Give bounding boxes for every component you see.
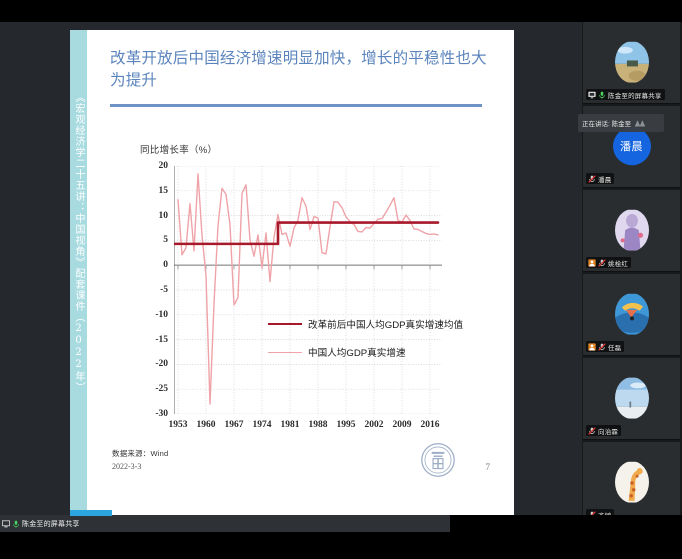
avatar: 潘晨 <box>613 127 651 165</box>
mic-muted-icon <box>598 259 606 267</box>
participant-tile[interactable]: 向治霖 <box>583 358 680 440</box>
chart-y-axis-title: 同比增长率（%） <box>140 142 217 156</box>
chart-x-tick: 1960 <box>197 420 216 430</box>
participant-name-badge: 潘晨 <box>586 173 614 184</box>
mic-muted-icon <box>598 343 606 351</box>
data-source-note: 数据来源：Wind <box>112 448 168 459</box>
slide-title: 改革开放后中国经济增速明显加快，增长的平稳性也大为提升 <box>110 48 490 92</box>
chart-x-tick: 2016 <box>421 420 440 430</box>
chart-y-tick: -30 <box>155 409 168 419</box>
chart-x-tick: 1995 <box>337 420 356 430</box>
legend-entry-series: 中国人均GDP真实增速 <box>268 342 463 362</box>
university-logo-icon <box>420 442 456 478</box>
screen-share-viewport: 《宏观经济学二十五讲：中国视角》配套课件（2022年） 改革开放后中国经济增速明… <box>0 22 582 515</box>
top-letterbox <box>0 0 682 22</box>
chart-x-tick: 1953 <box>169 420 188 430</box>
avatar <box>615 293 649 335</box>
active-window-indicator <box>70 510 112 516</box>
legend-swatch-average <box>268 323 302 325</box>
chart-y-tick: -25 <box>155 384 168 394</box>
chart-legend: 改革前后中国人均GDP真实增速均值 中国人均GDP真实增速 <box>268 314 463 370</box>
slide-page-number: 7 <box>486 462 491 472</box>
chart-y-tick: 10 <box>159 211 169 221</box>
participant-name-badge: 陈金至的屏幕共享 <box>586 89 665 100</box>
avatar-photo <box>615 377 649 419</box>
chart-y-tick: -10 <box>155 310 168 320</box>
avatar-photo <box>615 209 649 251</box>
title-underline <box>110 104 482 107</box>
chart-y-tick: 20 <box>159 161 169 171</box>
chart-x-tick: 2002 <box>365 420 384 430</box>
avatar-photo <box>615 461 649 503</box>
chart-y-tick: -15 <box>155 335 168 345</box>
chart-y-tick: 0 <box>163 260 168 270</box>
avatar-photo <box>615 293 649 335</box>
avatar <box>615 377 649 419</box>
chart-x-tick: 1988 <box>309 420 328 430</box>
legend-entry-average: 改革前后中国人均GDP真实增速均值 <box>268 314 463 334</box>
chart: 同比增长率（%） 20151050-5-10-15-20-25-30 19531… <box>140 142 456 442</box>
chart-x-tick-labels: 1953196019671974198119881995200220092016 <box>174 420 442 436</box>
chart-y-tick: -20 <box>155 359 168 369</box>
mic-muted-icon <box>588 175 596 183</box>
presentation-slide[interactable]: 《宏观经济学二十五讲：中国视角》配套课件（2022年） 改革开放后中国经济增速明… <box>70 30 514 515</box>
legend-label-average: 改革前后中国人均GDP真实增速均值 <box>308 317 463 331</box>
chart-y-tick: -5 <box>160 285 168 295</box>
chart-x-tick: 2009 <box>393 420 412 430</box>
video-off-icon <box>588 259 596 267</box>
chart-x-tick: 1981 <box>281 420 300 430</box>
bottom-letterbox: 陈金至的屏幕共享 S 中 ✎ ☺ 🎤 ▤ ⌨ 👕 ⊞ <box>0 515 682 559</box>
participant-rail[interactable]: 正在讲话: 陈金至 陈金至的屏幕共享潘晨潘晨姚桧红任磊向治霖齐毓 <box>582 22 682 515</box>
participant-tile[interactable]: 任磊 <box>583 274 680 356</box>
chart-svg <box>174 166 442 414</box>
participant-name-badge: 向治霖 <box>586 425 621 436</box>
video-off-icon <box>588 343 596 351</box>
legend-swatch-series <box>268 352 302 353</box>
chart-y-tick: 5 <box>163 235 168 245</box>
participant-name-badge: 姚桧红 <box>586 257 631 268</box>
mic-muted-icon <box>588 427 596 435</box>
chart-x-tick: 1974 <box>253 420 272 430</box>
screen-share-title-text: 陈金至的屏幕共享 <box>22 519 80 529</box>
chart-plot-area <box>174 166 442 414</box>
chart-y-tick-labels: 20151050-5-10-15-20-25-30 <box>140 166 171 414</box>
avatar <box>615 209 649 251</box>
share-backdrop: 《宏观经济学二十五讲：中国视角》配套课件（2022年） 改革开放后中国经济增速明… <box>0 22 582 515</box>
mic-on-icon <box>598 91 606 99</box>
chart-x-tick: 1967 <box>225 420 244 430</box>
participant-name: 陈金至的屏幕共享 <box>608 90 662 100</box>
speaking-now-toast: 正在讲话: 陈金至 <box>578 114 664 132</box>
participant-name: 潘晨 <box>598 174 611 184</box>
avatar-photo <box>615 41 649 83</box>
mic-on-icon <box>12 520 20 528</box>
participant-tile[interactable]: 姚桧红 <box>583 190 680 272</box>
chart-y-tick: 15 <box>159 186 169 196</box>
screen-share-icon <box>588 91 596 99</box>
participant-tile[interactable]: 齐毓 <box>583 442 680 524</box>
screen-root: 《宏观经济学二十五讲：中国视角》配套课件（2022年） 改革开放后中国经济增速明… <box>0 0 682 559</box>
participant-tile[interactable]: 陈金至的屏幕共享 <box>583 22 680 104</box>
slide-date: 2022-3-3 <box>112 462 141 471</box>
screen-share-titlebar[interactable]: 陈金至的屏幕共享 <box>0 515 450 532</box>
legend-label-series: 中国人均GDP真实增速 <box>308 345 406 359</box>
participant-name: 向治霖 <box>598 426 618 436</box>
slide-side-tab-text: 《宏观经济学二十五讲：中国视角》配套课件（2022年） <box>70 92 88 512</box>
speaking-now-label: 正在讲话: 陈金至 <box>582 118 631 128</box>
avatar <box>615 41 649 83</box>
participant-name-badge: 任磊 <box>586 341 624 352</box>
monitor-icon <box>2 520 10 528</box>
participant-name: 任磊 <box>608 342 621 352</box>
audio-wave-icon <box>634 118 648 128</box>
avatar <box>615 461 649 503</box>
participant-name: 姚桧红 <box>608 258 628 268</box>
